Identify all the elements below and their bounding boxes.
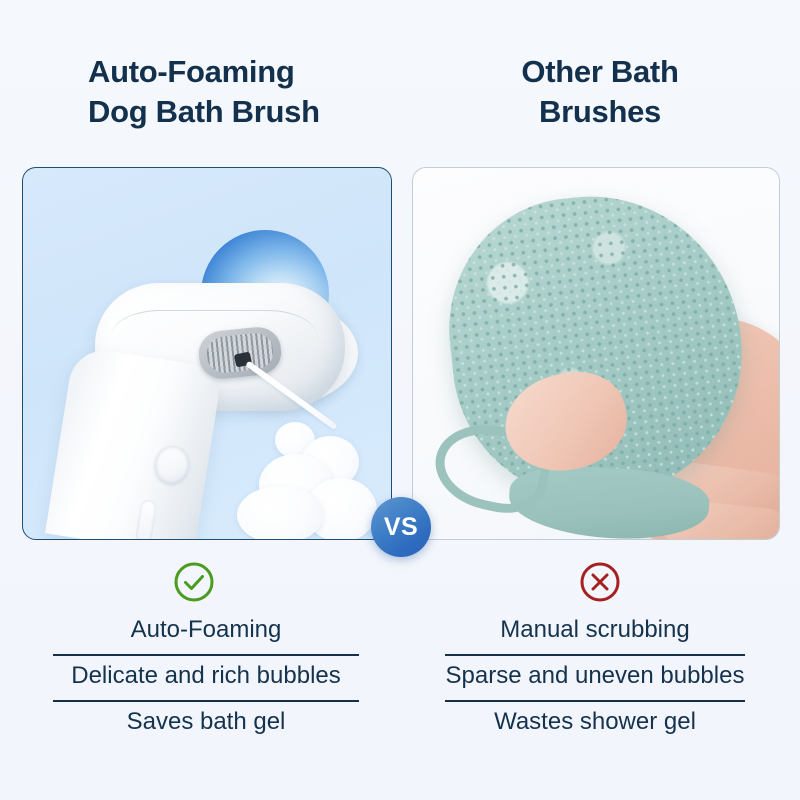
- left-heading-line-1: Auto-Foaming: [88, 52, 320, 92]
- feature-item: Delicate and rich bubbles: [22, 660, 390, 697]
- vs-badge: VS: [371, 497, 431, 557]
- feature-item: Auto-Foaming: [22, 614, 390, 651]
- brush-handle: [45, 345, 223, 540]
- check-circle-icon: [172, 560, 216, 604]
- left-feature-list: Auto-Foaming Delicate and rich bubbles S…: [22, 614, 390, 743]
- right-feature-list: Manual scrubbing Sparse and uneven bubbl…: [412, 614, 778, 743]
- feature-item: Manual scrubbing: [412, 614, 778, 651]
- result-icons-row: [0, 560, 800, 608]
- headings-row: Auto-Foaming Dog Bath Brush Other Bath B…: [0, 52, 800, 162]
- feature-item: Saves bath gel: [22, 706, 390, 743]
- right-heading-line-2: Brushes: [440, 92, 760, 132]
- feature-item: Sparse and uneven bubbles: [412, 660, 778, 697]
- vs-label: VS: [384, 515, 418, 540]
- feature-divider: [445, 654, 745, 656]
- left-product-image-panel: [22, 167, 392, 540]
- silicone-brush-illustration: [413, 168, 779, 539]
- left-column-heading: Auto-Foaming Dog Bath Brush: [88, 52, 320, 131]
- feature-divider: [53, 700, 359, 702]
- auto-foaming-brush-illustration: [23, 168, 391, 539]
- comparison-infographic: Auto-Foaming Dog Bath Brush Other Bath B…: [0, 0, 800, 800]
- panels-row: VS: [0, 167, 800, 539]
- right-product-image-panel: [412, 167, 780, 540]
- cross-circle-icon: [578, 560, 622, 604]
- left-heading-line-2: Dog Bath Brush: [88, 92, 320, 132]
- foam-blob: [237, 486, 323, 540]
- right-column-heading: Other Bath Brushes: [440, 52, 760, 131]
- feature-divider: [53, 654, 359, 656]
- feature-divider: [445, 700, 745, 702]
- feature-item: Wastes shower gel: [412, 706, 778, 743]
- right-heading-line-1: Other Bath: [440, 52, 760, 92]
